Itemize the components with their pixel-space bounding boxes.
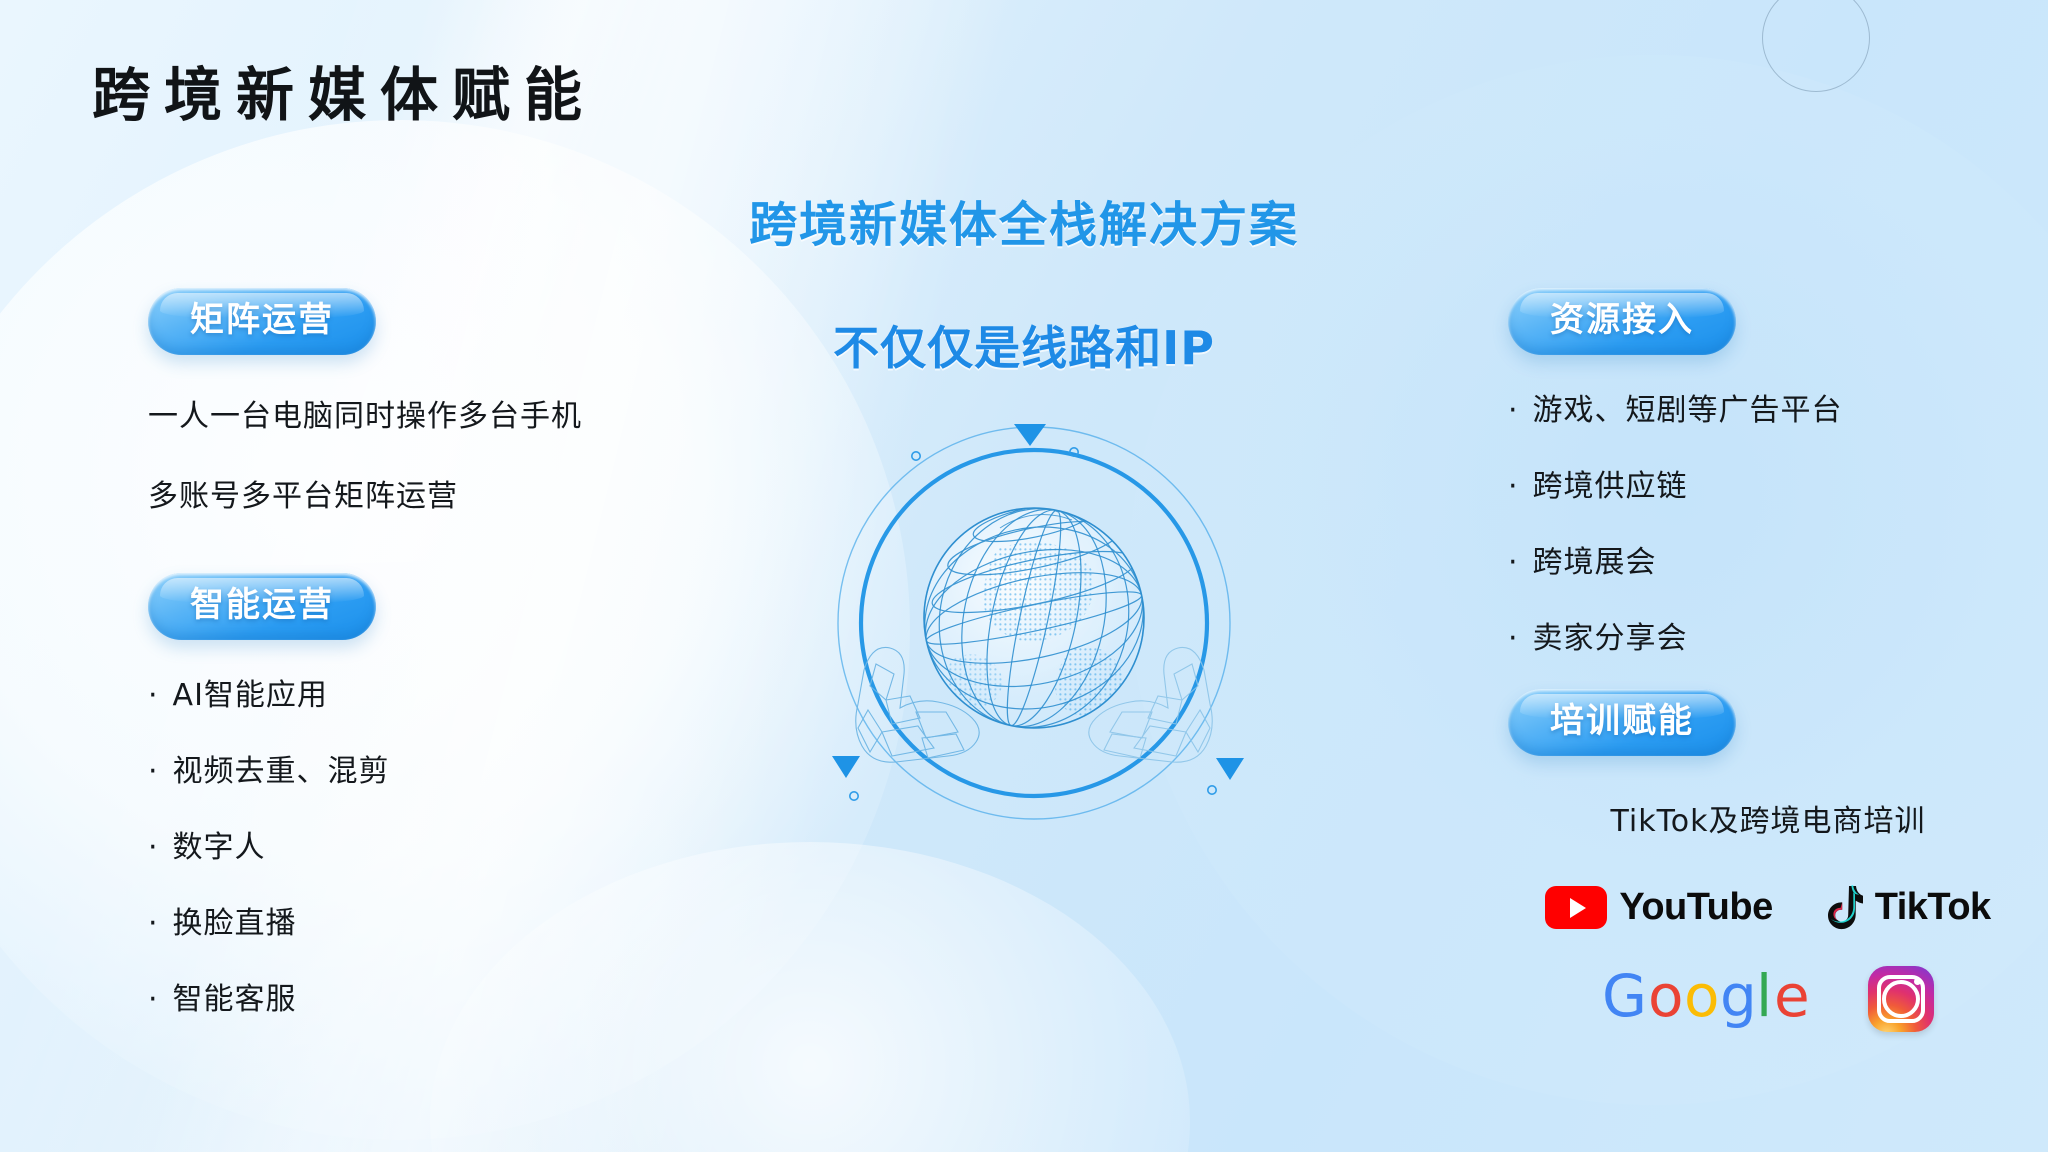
list-item: · 智能客服 [148, 974, 788, 1018]
list-item: · 数字人 [148, 822, 788, 866]
list-item-label: 跨境供应链 [1533, 461, 1688, 505]
list-item: · 跨境展会 [1508, 537, 2028, 581]
list-item-label: AI智能应用 [173, 670, 328, 714]
svg-text:g: g [1720, 966, 1757, 1030]
list-item-label: 换脸直播 [173, 898, 297, 942]
svg-text:G: G [1602, 966, 1647, 1030]
list-item: · 跨境供应链 [1508, 461, 2028, 505]
bullet-dot-icon: · [1508, 548, 1519, 578]
bullet-dot-icon: · [148, 985, 159, 1015]
matrix-line-2: 多账号多平台矩阵运营 [148, 471, 788, 515]
list-item-label: 视频去重、混剪 [173, 746, 390, 790]
list-item-label: 跨境展会 [1533, 537, 1657, 581]
svg-text:o: o [1684, 966, 1720, 1030]
svg-text:e: e [1774, 966, 1808, 1030]
pill-resource-access[interactable]: 资源接入 [1508, 288, 1736, 355]
bullet-dot-icon: · [1508, 624, 1519, 654]
svg-text:l: l [1756, 966, 1772, 1030]
list-item-label: 数字人 [173, 822, 266, 866]
slide-content: 跨境新媒体赋能 跨境新媒体全栈解决方案 不仅仅是线路和IP 矩阵运营 一人一台电… [0, 0, 2048, 1152]
section-matrix-operations: 矩阵运营 一人一台电脑同时操作多台手机 多账号多平台矩阵运营 [148, 288, 788, 515]
list-item-label: 游戏、短剧等广告平台 [1533, 385, 1843, 429]
headline: 跨境新媒体全栈解决方案 [0, 185, 2048, 255]
globe-in-hands-illustration [824, 418, 1244, 848]
spacer [148, 515, 788, 573]
training-note: TikTok及跨境电商培训 [1508, 796, 2028, 840]
bullet-dot-icon: · [148, 681, 159, 711]
resource-access-list: · 游戏、短剧等广告平台 · 跨境供应链 · 跨境展会 · 卖家分享会 [1508, 385, 2028, 657]
tiktok-logo-label: TikTok [1875, 886, 1991, 929]
pill-training-empowerment[interactable]: 培训赋能 [1508, 689, 1736, 756]
youtube-logo[interactable]: YouTube [1545, 886, 1772, 929]
list-item: · 卖家分享会 [1508, 613, 2028, 657]
youtube-play-icon [1545, 886, 1607, 929]
bullet-dot-icon: · [1508, 396, 1519, 426]
bullet-dot-icon: · [148, 833, 159, 863]
left-column: 矩阵运营 一人一台电脑同时操作多台手机 多账号多平台矩阵运营 智能运营 · AI… [148, 288, 788, 1050]
matrix-line-1: 一人一台电脑同时操作多台手机 [148, 391, 788, 435]
tiktok-note-icon [1819, 884, 1863, 932]
instagram-logo[interactable] [1868, 966, 1934, 1032]
page-title: 跨境新媒体赋能 [92, 48, 596, 132]
bullet-dot-icon: · [148, 909, 159, 939]
list-item-label: 卖家分享会 [1533, 613, 1688, 657]
section-intelligent-operations: 智能运营 · AI智能应用 · 视频去重、混剪 · 数字人 · 换脸直播 [148, 573, 788, 1018]
bullet-dot-icon: · [1508, 472, 1519, 502]
bullet-dot-icon: · [148, 757, 159, 787]
list-item: · AI智能应用 [148, 670, 788, 714]
logo-row-bottom: G o o g l e [1508, 966, 2028, 1032]
tiktok-logo[interactable]: TikTok [1819, 884, 1991, 932]
section-training-empowerment: 培训赋能 TikTok及跨境电商培训 YouTube [1508, 689, 2028, 1032]
subheadline-text: 不仅仅是线路和IP [833, 321, 1215, 375]
logo-row-top: YouTube TikTok [1508, 884, 2028, 932]
pill-intelligent-operations[interactable]: 智能运营 [148, 573, 376, 640]
list-item-label: 智能客服 [173, 974, 297, 1018]
svg-text:o: o [1648, 966, 1684, 1030]
pill-matrix-operations[interactable]: 矩阵运营 [148, 288, 376, 355]
right-column: 资源接入 · 游戏、短剧等广告平台 · 跨境供应链 · 跨境展会 · 卖家分享会 [1508, 288, 2028, 1032]
headline-text: 跨境新媒体全栈解决方案 [749, 185, 1299, 255]
youtube-logo-label: YouTube [1619, 886, 1772, 929]
intelligent-operations-list: · AI智能应用 · 视频去重、混剪 · 数字人 · 换脸直播 · 智能客服 [148, 670, 788, 1018]
section-resource-access: 资源接入 · 游戏、短剧等广告平台 · 跨境供应链 · 跨境展会 · 卖家分享会 [1508, 288, 2028, 657]
list-item: · 游戏、短剧等广告平台 [1508, 385, 2028, 429]
google-wordmark-icon: G o o g l e [1602, 966, 1808, 1032]
list-item: · 换脸直播 [148, 898, 788, 942]
list-item: · 视频去重、混剪 [148, 746, 788, 790]
instagram-frame-icon [1877, 975, 1925, 1023]
google-logo[interactable]: G o o g l e [1602, 966, 1808, 1032]
